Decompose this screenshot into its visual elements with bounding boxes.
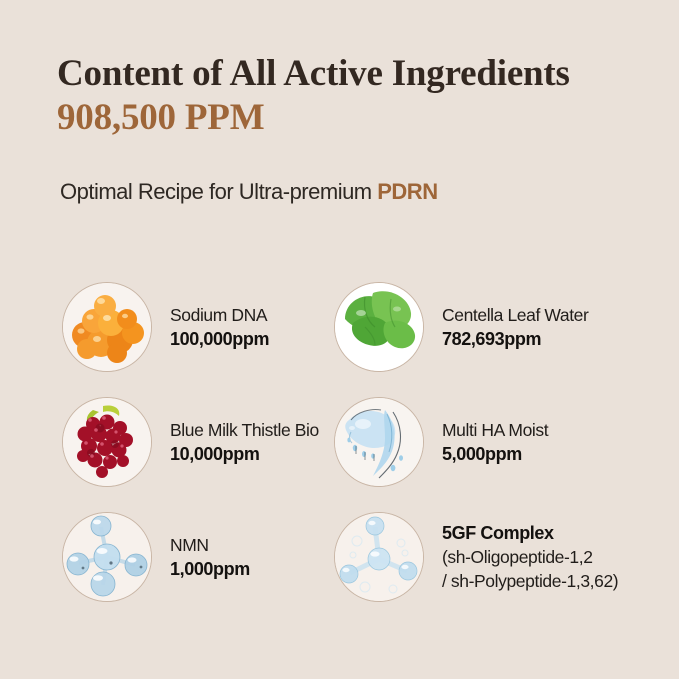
water-splash-icon [334, 397, 424, 487]
centella-leaf-icon [334, 282, 424, 372]
subtitle-prefix: Optimal Recipe for Ultra-premium [60, 179, 377, 204]
ingredient-labels: Blue Milk Thistle Bio 10,000ppm [170, 418, 319, 467]
ingredient-row: Sodium DNA 100,000ppm [0, 280, 679, 395]
ingredient-item-blue-milk-thistle-bio: Blue Milk Thistle Bio 10,000ppm [62, 395, 319, 489]
ingredient-name: 5GF Complex [442, 521, 618, 545]
ingredient-labels: NMN 1,000ppm [170, 533, 250, 582]
ingredient-amount: 782,693ppm [442, 327, 588, 352]
ingredient-name: Multi HA Moist [442, 418, 548, 442]
subtitle: Optimal Recipe for Ultra-premium PDRN [60, 178, 438, 206]
ingredient-name: NMN [170, 533, 250, 557]
ingredient-amount: 1,000ppm [170, 557, 250, 582]
ingredient-labels: 5GF Complex (sh-Oligopeptide-1,2 / sh-Po… [442, 521, 618, 593]
ingredient-amount: 100,000ppm [170, 327, 269, 352]
page-title: Content of All Active Ingredients [57, 52, 637, 96]
red-berries-icon [62, 397, 152, 487]
salmon-roe-icon [62, 282, 152, 372]
ingredient-sub-line-2: / sh-Polypeptide-1,3,62) [442, 569, 618, 593]
ingredient-row: NMN 1,000ppm [0, 510, 679, 625]
ingredient-amount: 5,000ppm [442, 442, 548, 467]
ingredient-item-multi-ha-moist: Multi HA Moist 5,000ppm [334, 395, 548, 489]
page-header: Content of All Active Ingredients 908,50… [57, 52, 637, 140]
ingredient-name: Centella Leaf Water [442, 303, 588, 327]
ingredient-name: Sodium DNA [170, 303, 269, 327]
ingredient-content-panel: Content of All Active Ingredients 908,50… [0, 0, 679, 679]
ingredient-item-centella-leaf-water: Centella Leaf Water 782,693ppm [334, 280, 588, 374]
ingredient-name: Blue Milk Thistle Bio [170, 418, 319, 442]
ingredient-sub-line-1: (sh-Oligopeptide-1,2 [442, 545, 618, 569]
molecule-trifold-icon [334, 512, 424, 602]
ingredient-labels: Centella Leaf Water 782,693ppm [442, 303, 588, 352]
ingredient-item-sodium-dna: Sodium DNA 100,000ppm [62, 280, 269, 374]
ingredient-labels: Multi HA Moist 5,000ppm [442, 418, 548, 467]
total-ppm-value: 908,500 PPM [57, 96, 637, 140]
molecule-cross-icon [62, 512, 152, 602]
ingredient-row: Blue Milk Thistle Bio 10,000ppm [0, 395, 679, 510]
subtitle-accent-pdrn: PDRN [377, 179, 437, 204]
ingredient-item-nmn: NMN 1,000ppm [62, 510, 250, 604]
ingredient-amount: 10,000ppm [170, 442, 319, 467]
ingredient-grid: Sodium DNA 100,000ppm [0, 280, 679, 625]
ingredient-item-5gf-complex: 5GF Complex (sh-Oligopeptide-1,2 / sh-Po… [334, 510, 618, 604]
ingredient-labels: Sodium DNA 100,000ppm [170, 303, 269, 352]
